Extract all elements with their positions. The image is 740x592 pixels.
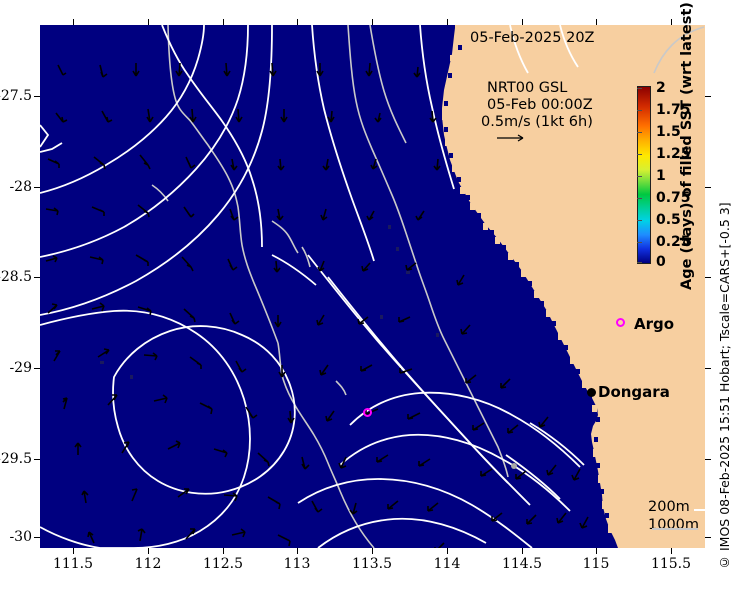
- y-tick-label: -27.5: [0, 88, 32, 104]
- dongara-city-marker-icon: [587, 388, 596, 397]
- x-tick-3: [297, 548, 298, 554]
- x-tick-label: 111.5: [53, 556, 93, 572]
- colorbar-tick: [637, 176, 642, 177]
- x-tick-top-7: [596, 19, 597, 25]
- colorbar-tick-label: 0: [656, 254, 666, 270]
- y-tick-label: -28: [9, 179, 32, 195]
- argo-float-marker-icon[interactable]: [363, 408, 372, 417]
- x-tick-label: 114: [434, 556, 461, 572]
- x-tick-label: 112.5: [203, 556, 243, 572]
- x-tick-top-1: [148, 19, 149, 25]
- x-tick-top-2: [223, 19, 224, 25]
- colorbar-tick-label: 0.5: [656, 212, 681, 228]
- colorbar-tick-label: 1.5: [656, 124, 681, 140]
- colorbar-tick: [637, 198, 642, 199]
- figure-canvas: 111.5 112 112.5 113 113.5 114 114.5 115 …: [0, 0, 740, 592]
- x-tick-7: [596, 548, 597, 554]
- depth-1000m-label: 1000m: [648, 517, 699, 533]
- timestamp-label: 05-Feb-2025 20Z: [470, 30, 594, 46]
- x-tick-top-0: [73, 19, 74, 25]
- y-tick-right-4: [705, 459, 711, 460]
- x-tick-label: 113.5: [352, 556, 392, 572]
- colorbar-tick: [637, 110, 642, 111]
- y-tick-right-1: [705, 187, 711, 188]
- y-tick-right-0: [705, 96, 711, 97]
- colorbar-tick: [637, 242, 642, 243]
- y-tick-right-2: [705, 277, 711, 278]
- y-tick-4: [34, 459, 40, 460]
- map-canvas: [40, 25, 705, 548]
- y-tick-5: [34, 537, 40, 538]
- y-tick-0: [34, 96, 40, 97]
- y-tick-right-5: [705, 537, 711, 538]
- y-tick-label: -29: [9, 360, 32, 376]
- product-name-label: NRT00 GSL: [487, 80, 567, 96]
- x-tick-top-6: [522, 19, 523, 25]
- x-tick-8: [671, 548, 672, 554]
- x-tick-2: [223, 548, 224, 554]
- x-tick-1: [148, 548, 149, 554]
- y-tick-label: -30: [9, 529, 32, 545]
- y-tick-label: -28.5: [0, 269, 32, 285]
- colorbar-tick: [637, 132, 642, 133]
- x-tick-label: 115.5: [651, 556, 691, 572]
- y-tick-label: -29.5: [0, 451, 32, 467]
- colorbar-tick: [637, 220, 642, 221]
- colorbar-tick: [637, 88, 642, 89]
- y-tick-2: [34, 277, 40, 278]
- x-tick-top-8: [671, 19, 672, 25]
- argo-legend-marker-icon: [616, 318, 625, 327]
- station-marker-icon: [511, 463, 517, 469]
- colorbar-gradient: [637, 86, 651, 264]
- x-tick-top-3: [297, 19, 298, 25]
- velocity-scale-label: 0.5m/s (1kt 6h): [481, 114, 593, 130]
- x-tick-top-4: [372, 19, 373, 25]
- reference-arrow-icon: [497, 133, 527, 143]
- argo-label: Argo: [634, 315, 674, 333]
- colorbar[interactable]: [637, 86, 651, 264]
- x-tick-label: 113: [284, 556, 311, 572]
- y-tick-right-3: [705, 368, 711, 369]
- dongara-label: Dongara: [598, 383, 670, 401]
- colorbar-title: Age (days) of filled SST (wrt latest): [679, 30, 701, 290]
- x-tick-label: 114.5: [502, 556, 542, 572]
- x-tick-0: [73, 548, 74, 554]
- x-tick-6: [522, 548, 523, 554]
- y-tick-1: [34, 187, 40, 188]
- x-tick-label: 115: [583, 556, 610, 572]
- copyright-credit: © IMOS 08-Feb-2025 15:51 Hobart; Tscale=…: [717, 170, 732, 570]
- depth-200m-label: 200m: [648, 499, 690, 515]
- depth-contour-legend: 200m 1000m: [648, 496, 699, 532]
- y-tick-3: [34, 368, 40, 369]
- colorbar-tick-label: 1: [656, 168, 666, 184]
- x-tick-top-5: [447, 19, 448, 25]
- product-time-label: 05-Feb 00:00Z: [487, 97, 593, 113]
- colorbar-tick-label: 2: [656, 80, 666, 96]
- x-tick-label: 112: [135, 556, 162, 572]
- colorbar-tick: [637, 262, 642, 263]
- colorbar-tick: [637, 154, 642, 155]
- x-tick-5: [447, 548, 448, 554]
- depth-1000m-line-sample: [652, 528, 698, 530]
- x-tick-4: [372, 548, 373, 554]
- map-plot-area[interactable]: [40, 25, 705, 548]
